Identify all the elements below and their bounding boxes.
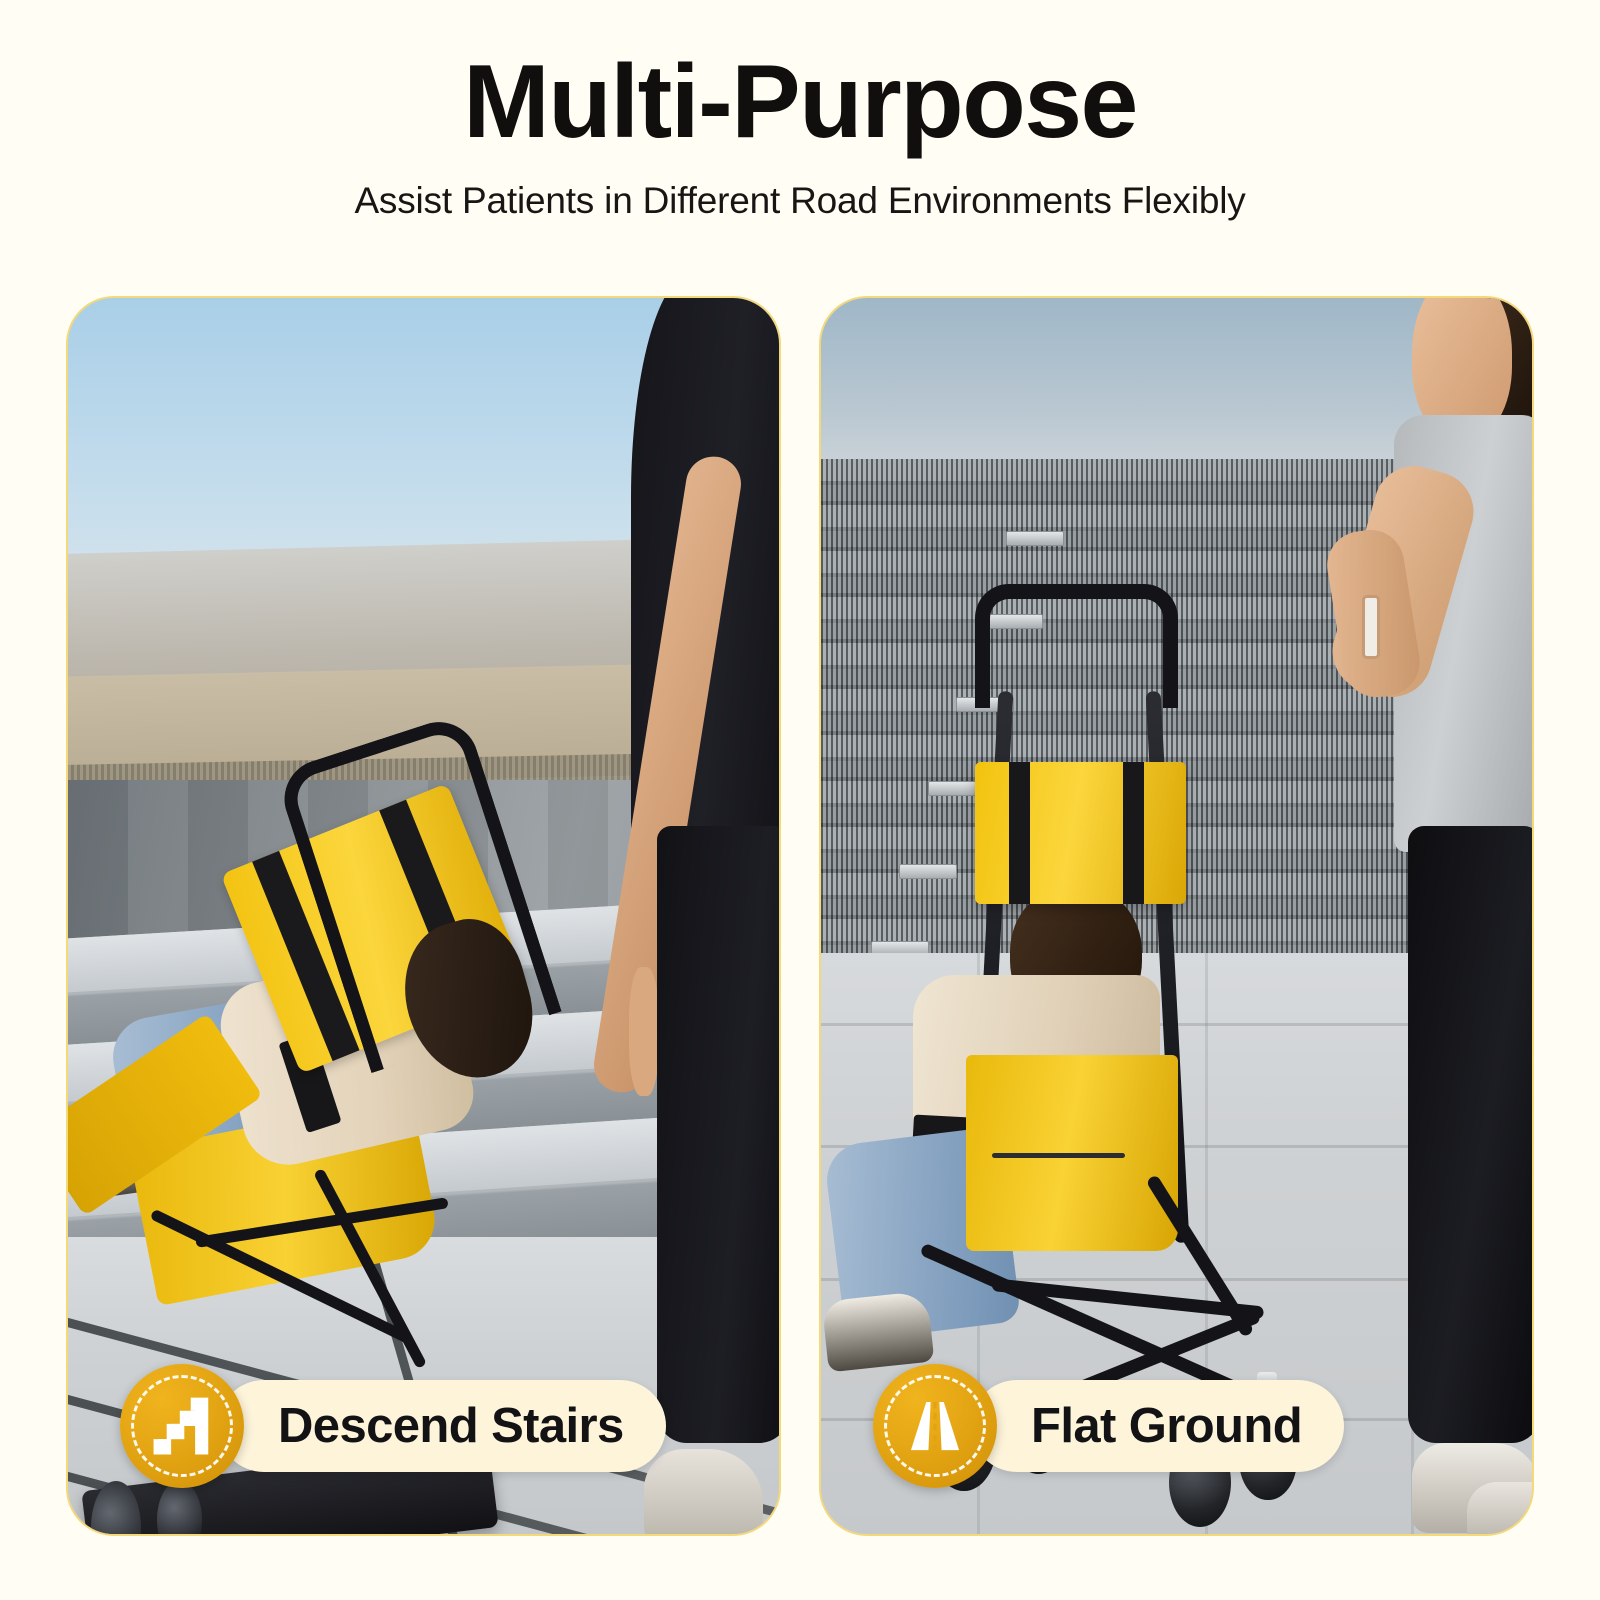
badge-pill: Descend Stairs xyxy=(218,1380,666,1472)
scene-flat-ground xyxy=(821,298,1532,1534)
operator-pants xyxy=(657,826,781,1443)
step-marker-plate xyxy=(1006,531,1064,546)
page-title: Multi-Purpose xyxy=(0,46,1600,158)
stairs-icon xyxy=(147,1391,217,1461)
patient-shoe xyxy=(822,1290,935,1372)
caregiver-shoe xyxy=(1467,1482,1534,1536)
badge-flat-ground[interactable]: Flat Ground xyxy=(873,1364,1344,1488)
panel-flat-ground: Flat Ground xyxy=(819,296,1534,1536)
caregiver-figure xyxy=(1326,296,1534,1536)
photo-panels: Descend Stairs xyxy=(66,296,1534,1536)
operator-hand xyxy=(629,967,659,1096)
chair-backrest xyxy=(975,762,1187,904)
road-icon xyxy=(900,1391,970,1461)
panel-descend-stairs: Descend Stairs xyxy=(66,296,781,1536)
scene-descend-stairs xyxy=(68,298,779,1534)
badge-icon-circle xyxy=(873,1364,997,1488)
badge-icon-circle xyxy=(120,1364,244,1488)
badge-descend-stairs[interactable]: Descend Stairs xyxy=(120,1364,666,1488)
smartwatch xyxy=(1362,595,1380,659)
frame-tube xyxy=(1146,1174,1255,1338)
page-subtitle: Assist Patients in Different Road Enviro… xyxy=(0,180,1600,222)
badge-label: Flat Ground xyxy=(1031,1398,1302,1454)
operator-figure xyxy=(580,296,781,1536)
badge-pill: Flat Ground xyxy=(971,1380,1344,1472)
caregiver-pants xyxy=(1408,826,1534,1443)
badge-label: Descend Stairs xyxy=(278,1398,624,1454)
header: Multi-Purpose Assist Patients in Differe… xyxy=(0,0,1600,222)
push-handle xyxy=(975,584,1178,709)
seat-zipper xyxy=(992,1153,1124,1158)
